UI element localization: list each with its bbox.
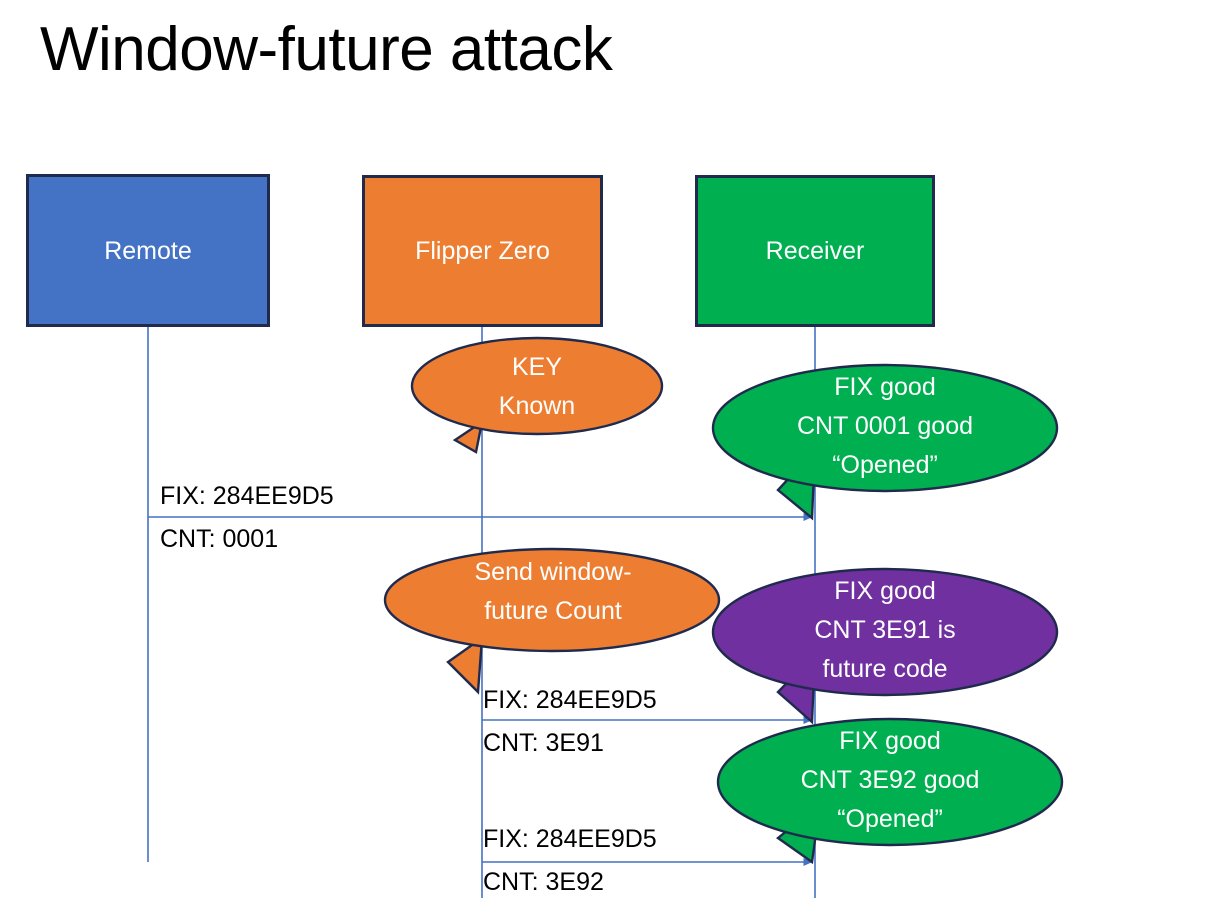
callout-fix-good-3e91[interactable] [713, 569, 1057, 722]
callout-text-fix-good-3e91: FIX good CNT 3E91 is future code [712, 572, 1058, 689]
actor-label-receiver: Receiver [766, 236, 865, 266]
callout-fix-good-0001[interactable] [713, 365, 1057, 518]
callout-key-known[interactable] [412, 338, 662, 452]
message-3-fix-label: FIX: 284EE9D5 [483, 823, 657, 855]
message-3-cnt-label: CNT: 3E92 [483, 866, 604, 898]
callout-text-fix-good-3e92: FIX good CNT 3E92 good “Opened” [717, 722, 1063, 839]
callout-bubble-key-known [412, 338, 662, 434]
callout-bubble-fix-good-0001 [713, 365, 1057, 491]
callout-tail-fix-good-3e91 [778, 654, 815, 722]
message-2-fix-label: FIX: 284EE9D5 [483, 684, 657, 716]
actor-box-flipper-zero[interactable]: Flipper Zero [362, 175, 603, 327]
callout-text-fix-good-0001: FIX good CNT 0001 good “Opened” [712, 368, 1058, 485]
callout-tail-fix-good-0001 [778, 450, 815, 518]
callout-bubble-fix-good-3e92 [718, 719, 1062, 845]
callout-tail-key-known [455, 422, 482, 452]
actor-box-remote[interactable]: Remote [26, 174, 270, 327]
actor-label-flipper-zero: Flipper Zero [415, 236, 550, 266]
diagram-vector-layer [0, 0, 1216, 898]
callout-tail-send-window-future-count [448, 638, 482, 692]
callout-send-window-future-count[interactable] [385, 549, 719, 692]
callout-fix-good-3e92[interactable] [718, 719, 1062, 862]
callout-bubble-fix-good-3e91 [713, 569, 1057, 695]
callout-text-key-known: KEY Known [412, 348, 662, 426]
page-title: Window-future attack [40, 10, 1140, 90]
message-1-fix-label: FIX: 284EE9D5 [160, 480, 334, 512]
actor-box-receiver[interactable]: Receiver [695, 175, 935, 327]
slide-canvas: Window-future attack Remote Flipper Zero… [0, 0, 1216, 898]
actor-label-remote: Remote [104, 236, 192, 266]
callout-tail-fix-good-3e92 [778, 804, 820, 862]
callout-bubble-send-window-future-count [385, 549, 719, 651]
message-2-cnt-label: CNT: 3E91 [483, 727, 604, 759]
callout-text-send-window-future-count: Send window- future Count [386, 553, 720, 631]
message-1-cnt-label: CNT: 0001 [160, 523, 278, 555]
